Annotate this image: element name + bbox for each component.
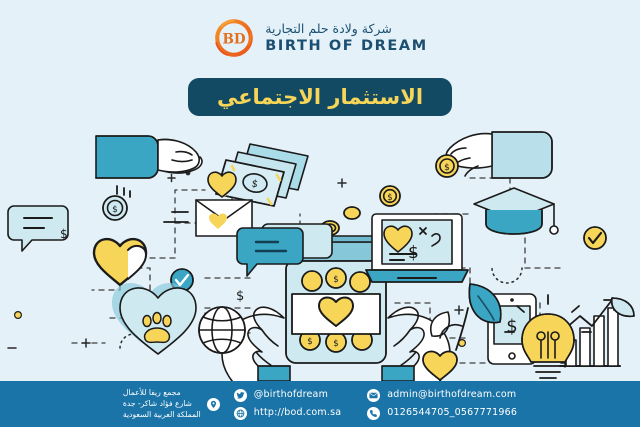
email-row[interactable]: admin@birthofdream.com: [367, 389, 517, 402]
svg-text:$: $: [112, 205, 118, 215]
location-pin-icon: [207, 398, 220, 411]
svg-text:$: $: [333, 339, 338, 349]
website-url: http://bod.com.sa: [254, 408, 341, 419]
svg-text:$: $: [387, 193, 392, 203]
svg-text:$: $: [307, 337, 312, 347]
phone-number: 0126544705_0567771966: [387, 408, 517, 419]
address-line-1: مجمع ريفا للأعمال: [123, 388, 181, 398]
brand-text-block: شركة ولادة حلم التجارية BIRTH OF DREAM: [265, 23, 427, 53]
twitter-handle: @birthofdream: [254, 390, 328, 401]
logo-monogram: BD: [223, 31, 246, 47]
address-lines: مجمع ريفا للأعمال شارع فؤاد شاكر- جدة ال…: [123, 388, 201, 421]
svg-text:$: $: [506, 316, 517, 337]
address-line-3: المملكة العربية السعودية: [123, 410, 201, 420]
brushstroke-circle-logo: BD: [212, 16, 256, 60]
contact-footer: مجمع ريفا للأعمال شارع فؤاد شاكر- جدة ال…: [0, 381, 640, 427]
svg-text:$: $: [408, 243, 419, 263]
footer-social-block: @birthofdream http://bod.com.sa: [234, 389, 341, 420]
phone-icon: [367, 407, 380, 420]
envelope-icon: [367, 389, 380, 402]
title-banner: الاستثمار الاجتماعي: [188, 78, 452, 116]
poster-canvas: BD شركة ولادة حلم التجارية BIRTH OF DREA…: [0, 0, 640, 427]
svg-text:$: $: [60, 227, 68, 241]
twitter-row[interactable]: @birthofdream: [234, 389, 341, 402]
illustration-stage: $: [0, 118, 640, 381]
svg-text:$: $: [444, 163, 450, 173]
footer-contact-block: admin@birthofdream.com 0126544705_056777…: [367, 389, 517, 420]
svg-text:$: $: [333, 275, 338, 285]
address-line-2: شارع فؤاد شاكر- جدة: [123, 399, 192, 409]
brand-header: BD شركة ولادة حلم التجارية BIRTH OF DREA…: [0, 12, 640, 64]
svg-text:$: $: [236, 289, 244, 304]
company-name-arabic: شركة ولادة حلم التجارية: [265, 23, 392, 36]
twitter-bird-icon: [234, 389, 247, 402]
email-address: admin@birthofdream.com: [387, 390, 516, 401]
website-row[interactable]: http://bod.com.sa: [234, 407, 341, 420]
footer-address-block: مجمع ريفا للأعمال شارع فؤاد شاكر- جدة ال…: [123, 388, 220, 421]
company-name-english: BIRTH OF DREAM: [265, 39, 427, 54]
page-title: الاستثمار الاجتماعي: [217, 87, 423, 108]
phone-row[interactable]: 0126544705_0567771966: [367, 407, 517, 420]
globe-icon: [234, 407, 247, 420]
